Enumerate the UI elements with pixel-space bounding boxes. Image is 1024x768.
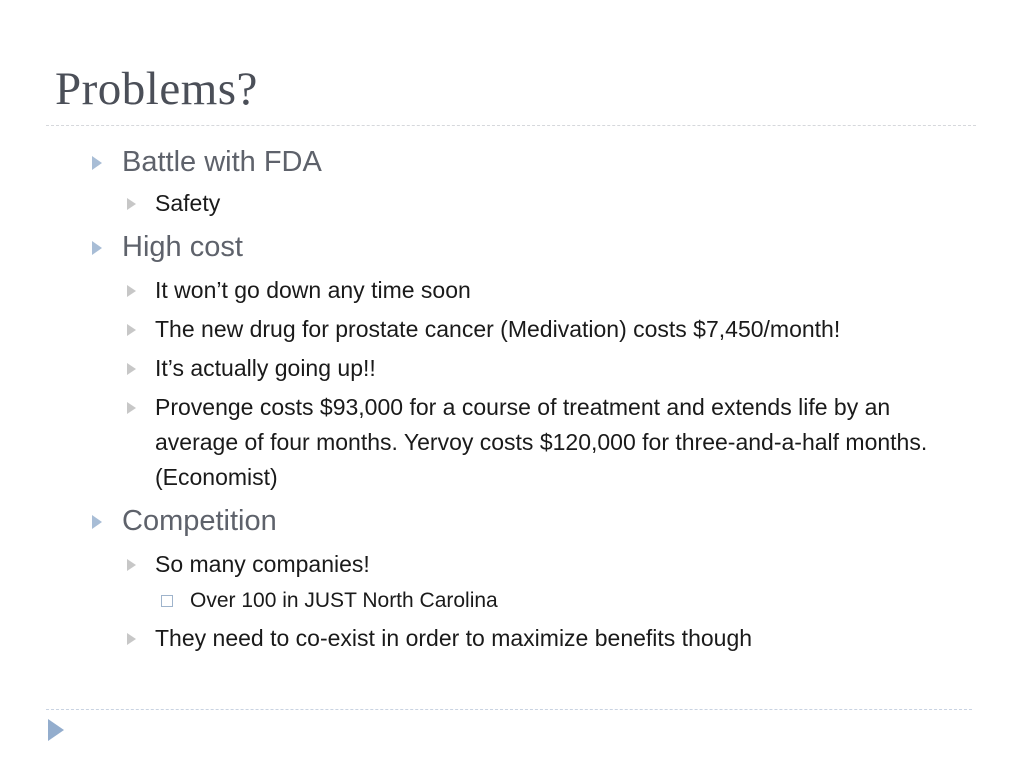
hollow-square-icon [161,595,173,607]
bullet-text: It won’t go down any time soon [155,273,964,308]
triangle-right-icon [127,363,136,375]
bullet-level1: High cost [0,225,1024,269]
bullet-level2: Provenge costs $93,000 for a course of t… [0,390,1024,495]
title-divider [46,125,976,126]
bullet-level2: The new drug for prostate cancer (Mediva… [0,312,1024,347]
bullet-text: Provenge costs $93,000 for a course of t… [155,390,964,495]
bullet-level2: Safety [0,186,1024,221]
triangle-right-icon [127,559,136,571]
bullet-level2: It’s actually going up!! [0,351,1024,386]
bullet-level2: So many companies! [0,547,1024,582]
triangle-right-icon [127,633,136,645]
bullet-level2: It won’t go down any time soon [0,273,1024,308]
bullet-level2: They need to co-exist in order to maximi… [0,621,1024,656]
bullet-text: Safety [155,186,964,221]
bullet-level3: Over 100 in JUST North Carolina [0,584,1024,617]
slide-canvas: Problems? Battle with FDA Safety High co… [0,0,1024,768]
bullet-text: So many companies! [155,547,964,582]
bullet-text: Battle with FDA [122,140,984,184]
triangle-right-icon[interactable] [48,719,64,741]
triangle-right-icon [127,402,136,414]
bullet-text: The new drug for prostate cancer (Mediva… [155,312,964,347]
triangle-right-icon [92,241,102,255]
bullet-level1: Competition [0,499,1024,543]
bullet-text: They need to co-exist in order to maximi… [155,621,964,656]
triangle-right-icon [92,156,102,170]
bullet-text: It’s actually going up!! [155,351,964,386]
triangle-right-icon [127,285,136,297]
triangle-right-icon [92,515,102,529]
slide-content-body: Battle with FDA Safety High cost It won’… [0,140,1024,658]
bullet-text: Over 100 in JUST North Carolina [190,584,964,617]
triangle-right-icon [127,324,136,336]
slide-title: Problems? [55,62,258,116]
bullet-level1: Battle with FDA [0,140,1024,184]
bullet-text: Competition [122,499,984,543]
bullet-text: High cost [122,225,984,269]
triangle-right-icon [127,198,136,210]
footer-divider [46,709,972,710]
